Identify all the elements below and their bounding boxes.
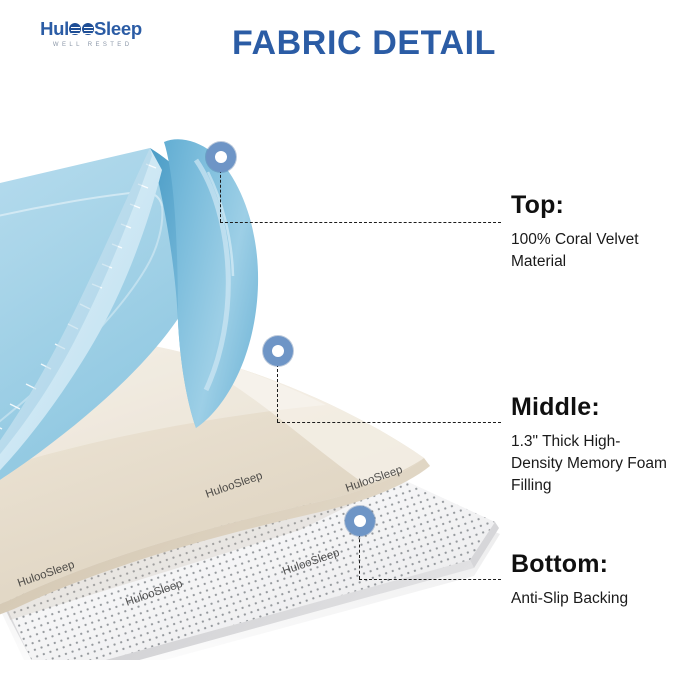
sleeping-eye-right-icon [82, 23, 94, 35]
brand-wordmark: Hul Sleep [21, 20, 161, 39]
infographic-page: Hul Sleep WELL RESTED FABRIC DETAIL [0, 0, 679, 679]
brand-tagline: WELL RESTED [21, 42, 161, 48]
brand-logo: Hul Sleep WELL RESTED [21, 20, 161, 48]
leader-line-bottom-horizontal [359, 579, 501, 580]
callout-bottom-title: Bottom: [511, 551, 628, 579]
leader-line-top-vertical [220, 170, 221, 222]
callout-top-description: 100% Coral Velvet Material [511, 229, 671, 273]
callout-marker-middle[interactable] [263, 336, 293, 366]
sleeping-eyes-icon [69, 22, 94, 37]
leader-line-bottom-vertical [359, 534, 360, 579]
callout-bottom: Bottom: Anti-Slip Backing [511, 551, 628, 610]
brand-name-part1: Hul [40, 18, 69, 39]
callout-bottom-description: Anti-Slip Backing [511, 588, 628, 610]
callout-middle-title: Middle: [511, 394, 671, 422]
brand-name-part2: Sleep [94, 18, 142, 39]
leader-line-middle-vertical [277, 364, 278, 422]
sleeping-eye-left-icon [69, 23, 81, 35]
callout-marker-bottom[interactable] [345, 506, 375, 536]
leader-line-top-horizontal [220, 222, 501, 223]
product-illustration [0, 60, 520, 660]
callout-middle: Middle: 1.3" Thick High-Density Memory F… [511, 394, 671, 497]
callout-top: Top: 100% Coral Velvet Material [511, 192, 671, 273]
callout-top-title: Top: [511, 192, 671, 220]
callout-middle-description: 1.3" Thick High-Density Memory Foam Fill… [511, 431, 671, 497]
callout-marker-top[interactable] [206, 142, 236, 172]
leader-line-middle-horizontal [277, 422, 501, 423]
page-title: FABRIC DETAIL [232, 24, 496, 63]
